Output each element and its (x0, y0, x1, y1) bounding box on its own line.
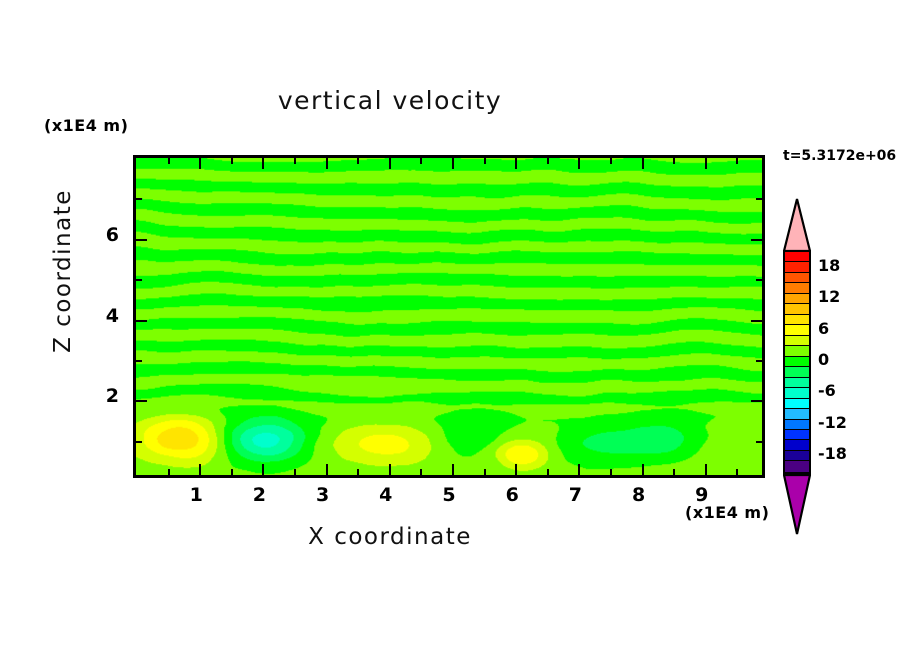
colorbar-band (785, 367, 809, 377)
x-axis-major-tick (578, 464, 580, 475)
y-axis-minor-tick (136, 360, 142, 362)
y-axis-major-tick-right (751, 320, 762, 322)
x-axis-tick-label: 3 (308, 484, 338, 506)
x-axis-major-tick-top (578, 158, 580, 169)
y-axis-major-tick (136, 400, 147, 402)
x-axis-major-tick (389, 464, 391, 475)
y-axis-title: Z coordinate (50, 186, 76, 356)
y-axis-minor-tick (136, 279, 142, 281)
x-axis-minor-tick (610, 469, 612, 475)
colorbar-tick-label: 6 (818, 319, 829, 338)
x-axis-tick-label: 4 (371, 484, 401, 506)
colorbar-over-arrow-icon (783, 198, 811, 252)
x-axis-minor-tick-top (610, 158, 612, 164)
timestamp-annotation: t=5.3172e+06 (783, 148, 896, 164)
x-axis-major-tick-top (199, 158, 201, 169)
colorbar-band (785, 378, 809, 388)
x-axis-major-tick (642, 464, 644, 475)
colorbar-band (785, 304, 809, 314)
x-axis-tick-label: 2 (244, 484, 274, 506)
colorbar-bands (783, 250, 811, 474)
colorbar-band (785, 336, 809, 346)
x-axis-minor-tick (484, 469, 486, 475)
x-axis-minor-tick (420, 469, 422, 475)
colorbar-band (785, 409, 809, 419)
x-axis-minor-tick-top (168, 158, 170, 164)
x-axis-tick-label: 7 (560, 484, 590, 506)
colorbar-tick-label: 0 (818, 350, 829, 369)
x-axis-major-tick-top (262, 158, 264, 169)
colorbar-tick-label: -12 (818, 413, 847, 432)
colorbar-band (785, 294, 809, 304)
y-axis-major-tick (136, 239, 147, 241)
x-axis-tick-label: 1 (181, 484, 211, 506)
y-axis-tick-label: 4 (93, 305, 119, 327)
colorbar-tick-label: 18 (818, 256, 840, 275)
contour-field (136, 158, 762, 475)
x-axis-major-tick-top (515, 158, 517, 169)
x-axis-minor-tick (168, 469, 170, 475)
colorbar-tick-label: -18 (818, 444, 847, 463)
colorbar-band (785, 325, 809, 335)
x-axis-title: X coordinate (0, 524, 780, 550)
colorbar-tick-label: -6 (818, 381, 836, 400)
z-axis-units-label: (x1E4 m) (44, 116, 128, 135)
y-axis-minor-tick-right (756, 198, 762, 200)
x-axis-minor-tick (231, 469, 233, 475)
x-axis-minor-tick-top (231, 158, 233, 164)
x-axis-minor-tick-top (357, 158, 359, 164)
x-axis-minor-tick (673, 469, 675, 475)
page-title: vertical velocity (0, 86, 780, 115)
x-axis-minor-tick-top (736, 158, 738, 164)
x-axis-major-tick-top (642, 158, 644, 169)
x-axis-minor-tick-top (484, 158, 486, 164)
colorbar-band (785, 346, 809, 356)
y-axis-minor-tick (136, 441, 142, 443)
colorbar-band (785, 461, 809, 471)
x-axis-major-tick-top (452, 158, 454, 169)
colorbar-band (785, 283, 809, 293)
y-axis-tick-label: 2 (93, 385, 119, 407)
x-axis-major-tick-top (705, 158, 707, 169)
x-axis-tick-label: 8 (624, 484, 654, 506)
colorbar-band (785, 252, 809, 262)
colorbar-band (785, 315, 809, 325)
y-axis-major-tick-right (751, 239, 762, 241)
colorbar-band (785, 357, 809, 367)
colorbar-band (785, 262, 809, 272)
x-axis-minor-tick (736, 469, 738, 475)
colorbar-band (785, 388, 809, 398)
colorbar-band (785, 273, 809, 283)
x-axis-minor-tick (547, 469, 549, 475)
y-axis-major-tick-right (751, 400, 762, 402)
colorbar-band (785, 420, 809, 430)
x-axis-minor-tick-top (420, 158, 422, 164)
x-axis-major-tick (452, 464, 454, 475)
colorbar-tick-label: 12 (818, 287, 840, 306)
colorbar-band (785, 399, 809, 409)
y-axis-tick-label: 6 (93, 224, 119, 246)
x-axis-tick-label: 6 (497, 484, 527, 506)
x-axis-minor-tick-top (673, 158, 675, 164)
x-axis-major-tick (515, 464, 517, 475)
colorbar-under-arrow-icon (783, 473, 811, 535)
x-axis-minor-tick-top (547, 158, 549, 164)
y-axis-minor-tick (136, 198, 142, 200)
x-axis-minor-tick (357, 469, 359, 475)
plot-area (133, 155, 765, 478)
x-axis-tick-label: 5 (434, 484, 464, 506)
y-axis-minor-tick-right (756, 360, 762, 362)
x-axis-major-tick (705, 464, 707, 475)
colorbar-band (785, 451, 809, 461)
y-axis-major-tick (136, 320, 147, 322)
colorbar-band (785, 440, 809, 450)
x-axis-major-tick-top (389, 158, 391, 169)
x-axis-tick-label: 9 (687, 484, 717, 506)
x-axis-major-tick (326, 464, 328, 475)
x-axis-minor-tick (294, 469, 296, 475)
y-axis-minor-tick-right (756, 441, 762, 443)
colorbar-band (785, 430, 809, 440)
x-axis-major-tick (199, 464, 201, 475)
x-axis-major-tick (262, 464, 264, 475)
x-axis-major-tick-top (326, 158, 328, 169)
x-axis-minor-tick-top (294, 158, 296, 164)
y-axis-minor-tick-right (756, 279, 762, 281)
